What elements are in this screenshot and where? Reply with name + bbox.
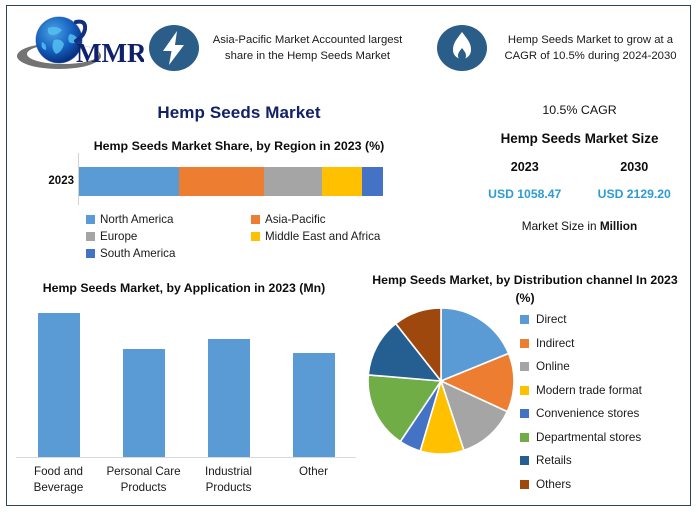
market-size-panel: 10.5% CAGR Hemp Seeds Market Size 2023 2…: [470, 103, 689, 233]
legend-item-convenience-stores: Convenience stores: [520, 402, 692, 426]
market-size-years: 2023 2030: [470, 160, 689, 174]
application-plot-area: [8, 306, 360, 458]
legend-item-others: Others: [520, 473, 692, 497]
market-size-heading: Hemp Seeds Market Size: [470, 131, 689, 146]
legend-item-europe: Europe: [86, 228, 251, 245]
legend-swatch-modern-trade-format: [520, 386, 529, 395]
bar-segment-europe: [264, 167, 322, 196]
market-size-unit-prefix: Market Size in: [522, 219, 600, 233]
header-stat-cagr: Hemp Seeds Market to grow at a CAGR of 1…: [436, 8, 693, 88]
header-stat-asia-pacific: Asia-Pacific Market Accounted largest sh…: [148, 8, 436, 88]
category-label-personal-care-products: Personal Care Products: [101, 464, 186, 496]
infographic-canvas: MMR Asia-Pacific Market Accounted larges…: [0, 0, 698, 516]
category-label-other: Other: [271, 464, 356, 496]
region-share-chart: Hemp Seeds Market Share, by Region in 20…: [8, 138, 470, 278]
legend-swatch-south-america: [86, 249, 95, 258]
legend-swatch-online: [520, 362, 529, 371]
legend-label-convenience-stores: Convenience stores: [536, 407, 639, 420]
market-size-year-2023: 2023: [470, 160, 580, 174]
legend-item-indirect: Indirect: [520, 332, 692, 356]
legend-item-north-america: North America: [86, 211, 251, 228]
legend-swatch-departmental-stores: [520, 433, 529, 442]
category-label-food-and-beverage: Food and Beverage: [16, 464, 101, 496]
market-size-values: USD 1058.47 USD 2129.20: [470, 187, 689, 201]
distribution-chart-title: Hemp Seeds Market, by Distribution chann…: [360, 272, 690, 308]
legend-item-middle-east-and-africa: Middle East and Africa: [251, 228, 416, 245]
distribution-pie-chart: Hemp Seeds Market, by Distribution chann…: [360, 272, 690, 508]
mmr-logo: MMR: [8, 8, 148, 88]
legend-swatch-direct: [520, 315, 529, 324]
legend-label-direct: Direct: [536, 313, 567, 326]
market-size-unit: Million: [600, 219, 637, 233]
legend-item-modern-trade-format: Modern trade format: [520, 379, 692, 403]
legend-swatch-europe: [86, 232, 95, 241]
bar-slot-industrial-products: [186, 306, 271, 457]
bar-segment-asia-pacific: [179, 167, 264, 196]
legend-item-direct: Direct: [520, 308, 692, 332]
bar-slot-food-and-beverage: [16, 306, 101, 457]
legend-label-asia-pacific: Asia-Pacific: [265, 213, 326, 226]
market-size-value-2023: USD 1058.47: [470, 187, 580, 201]
legend-swatch-retails: [520, 456, 529, 465]
legend-item-departmental-stores: Departmental stores: [520, 426, 692, 450]
application-axis-line: [16, 457, 356, 458]
distribution-legend: DirectIndirectOnlineModern trade formatC…: [520, 308, 692, 496]
bar-segment-middle-east-and-africa: [322, 167, 362, 196]
region-share-category-label: 2023: [18, 175, 74, 187]
legend-label-indirect: Indirect: [536, 337, 574, 350]
legend-swatch-asia-pacific: [251, 215, 260, 224]
legend-item-asia-pacific: Asia-Pacific: [251, 211, 416, 228]
header-stat-asia-pacific-text: Asia-Pacific Market Accounted largest sh…: [200, 32, 415, 64]
bar-slot-personal-care-products: [101, 306, 186, 457]
legend-label-middle-east-and-africa: Middle East and Africa: [265, 230, 380, 243]
flame-icon: [436, 22, 488, 74]
legend-swatch-middle-east-and-africa: [251, 232, 260, 241]
bar-industrial-products: [208, 339, 250, 457]
distribution-plot-area: DirectIndirectOnlineModern trade formatC…: [360, 306, 690, 506]
bar-other: [293, 353, 335, 457]
header-bar: MMR Asia-Pacific Market Accounted larges…: [8, 6, 689, 90]
mmr-wordmark: MMR: [76, 38, 144, 68]
legend-label-south-america: South America: [100, 247, 175, 260]
region-legend: North America Asia-Pacific Europe Middle…: [86, 211, 416, 262]
application-bars: [16, 306, 356, 457]
page-title: Hemp Seeds Market: [8, 103, 470, 123]
pie-svg: [366, 306, 516, 456]
bar-segment-south-america: [362, 167, 383, 196]
bar-segment-north-america: [79, 167, 179, 196]
legend-item-south-america: South America: [86, 245, 251, 262]
legend-swatch-north-america: [86, 215, 95, 224]
legend-item-retails: Retails: [520, 449, 692, 473]
market-size-value-2030: USD 2129.20: [580, 187, 690, 201]
application-bar-chart: Hemp Seeds Market, by Application in 202…: [8, 280, 360, 508]
mmr-logo-svg: MMR: [14, 14, 144, 76]
legend-label-others: Others: [536, 478, 571, 491]
legend-label-retails: Retails: [536, 454, 572, 467]
legend-label-departmental-stores: Departmental stores: [536, 431, 641, 444]
category-label-industrial-products: Industrial Products: [186, 464, 271, 496]
legend-label-europe: Europe: [100, 230, 137, 243]
bar-slot-other: [271, 306, 356, 457]
bar-personal-care-products: [123, 349, 165, 457]
application-category-labels: Food and Beverage Personal Care Products…: [16, 464, 356, 496]
market-size-unit-note: Market Size in Million: [470, 219, 689, 233]
legend-label-online: Online: [536, 360, 570, 373]
legend-swatch-convenience-stores: [520, 409, 529, 418]
legend-swatch-others: [520, 480, 529, 489]
legend-label-modern-trade-format: Modern trade format: [536, 384, 642, 397]
legend-label-north-america: North America: [100, 213, 173, 226]
header-stat-cagr-text: Hemp Seeds Market to grow at a CAGR of 1…: [488, 32, 693, 64]
cagr-value: 10.5% CAGR: [470, 103, 689, 117]
lightning-bolt-icon: [148, 22, 200, 74]
region-stacked-bar: [79, 167, 383, 196]
region-share-plot: 2023: [8, 163, 470, 205]
bar-food-and-beverage: [38, 313, 80, 457]
application-chart-title: Hemp Seeds Market, by Application in 202…: [8, 280, 360, 297]
market-size-year-2030: 2030: [580, 160, 690, 174]
legend-swatch-indirect: [520, 339, 529, 348]
legend-item-online: Online: [520, 355, 692, 379]
